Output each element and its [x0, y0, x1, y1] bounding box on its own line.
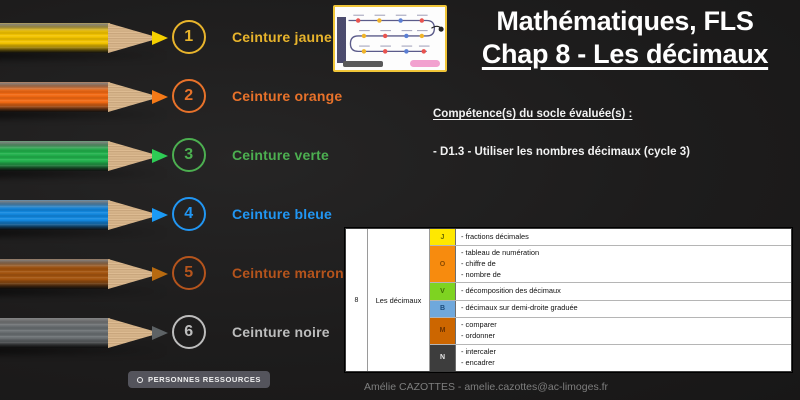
belt-row-1[interactable]: 1Ceinture jaune	[172, 20, 332, 54]
belt-label-4: Ceinture bleue	[232, 206, 332, 222]
table-cell-item: - nombre de	[461, 270, 791, 281]
competence-heading: Compétence(s) du socle évaluée(s) :	[433, 108, 632, 120]
belt-code-J: J	[430, 229, 456, 245]
table-row-group: J- fractions décimalesO- tableau de numé…	[430, 229, 791, 371]
table-row: N- intercaler- encadrer	[430, 345, 791, 371]
thumbnail-bar	[343, 61, 383, 67]
thumbnail-pill	[410, 60, 440, 67]
pencil-body	[0, 318, 110, 348]
table-row: O- tableau de numération- chiffre de- no…	[430, 246, 791, 283]
table-row: J- fractions décimales	[430, 229, 791, 246]
belt-number-6: 6	[172, 315, 206, 349]
table-cell-items: - fractions décimales	[456, 229, 791, 245]
author-credit: Amélie CAZOTTES - amelie.cazottes@ac-lim…	[0, 381, 792, 393]
table-cell-items: - décimaux sur demi-droite graduée	[456, 301, 791, 317]
belt-label-2: Ceinture orange	[232, 88, 342, 104]
belt-row-2[interactable]: 2Ceinture orange	[172, 79, 342, 113]
belt-row-5[interactable]: 5Ceinture marron	[172, 256, 344, 290]
table-chapter-number: 8	[346, 229, 368, 371]
table-cell-item: - tableau de numération	[461, 248, 791, 259]
slide-canvas: 1Ceinture jaune2Ceinture orange3Ceinture…	[0, 0, 800, 400]
pencil-body	[0, 259, 110, 289]
belt-row-4[interactable]: 4Ceinture bleue	[172, 197, 332, 231]
belt-number-4: 4	[172, 197, 206, 231]
table-row: B- décimaux sur demi-droite graduée	[430, 301, 791, 318]
pencil-tip	[152, 90, 168, 104]
table-cell-item: - intercaler	[461, 347, 791, 358]
title-line-1: Mathématiques, FLS	[455, 6, 795, 38]
title-line-2: Chap 8 - Les décimaux	[455, 38, 795, 72]
table-cell-item: - encadrer	[461, 358, 791, 369]
belt-row-6[interactable]: 6Ceinture noire	[172, 315, 330, 349]
pencil-tip	[152, 267, 168, 281]
skills-table: 8 Les décimaux J- fractions décimalesO- …	[345, 228, 792, 372]
pencil-tip	[152, 326, 168, 340]
belt-code-M: M	[430, 318, 456, 344]
pencil-body	[0, 141, 110, 171]
belt-label-5: Ceinture marron	[232, 265, 344, 281]
belt-code-O: O	[430, 246, 456, 282]
belt-row-3[interactable]: 3Ceinture verte	[172, 138, 329, 172]
belt-label-3: Ceinture verte	[232, 147, 329, 163]
belt-number-2: 2	[172, 79, 206, 113]
learning-path-thumbnail[interactable]	[333, 5, 447, 72]
table-row: V- décomposition des décimaux	[430, 283, 791, 300]
belt-code-N: N	[430, 345, 456, 371]
pencil-body	[0, 200, 110, 230]
table-cell-items: - tableau de numération- chiffre de- nom…	[456, 246, 791, 282]
table-cell-item: - ordonner	[461, 331, 791, 342]
belt-code-B: B	[430, 301, 456, 317]
table-cell-items: - intercaler- encadrer	[456, 345, 791, 371]
pencil-body	[0, 82, 110, 112]
thumbnail-vertical-title	[337, 17, 346, 63]
page-title: Mathématiques, FLS Chap 8 - Les décimaux	[455, 6, 795, 72]
table-row: M- comparer- ordonner	[430, 318, 791, 345]
belt-label-1: Ceinture jaune	[232, 29, 332, 45]
belt-number-3: 3	[172, 138, 206, 172]
table-cell-items: - décomposition des décimaux	[456, 283, 791, 299]
table-cell-item: - fractions décimales	[461, 232, 791, 243]
table-cell-item: - décomposition des décimaux	[461, 286, 791, 297]
belt-code-V: V	[430, 283, 456, 299]
belt-label-6: Ceinture noire	[232, 324, 330, 340]
pencil-tip	[152, 31, 168, 45]
table-cell-items: - comparer- ordonner	[456, 318, 791, 344]
pencil-body	[0, 23, 110, 53]
belt-number-5: 5	[172, 256, 206, 290]
table-cell-item: - chiffre de	[461, 259, 791, 270]
table-theme: Les décimaux	[368, 229, 430, 371]
table-cell-item: - décimaux sur demi-droite graduée	[461, 303, 791, 314]
competence-item: - D1.3 - Utiliser les nombres décimaux (…	[433, 146, 690, 158]
belt-number-1: 1	[172, 20, 206, 54]
table-cell-item: - comparer	[461, 320, 791, 331]
pencil-tip	[152, 208, 168, 222]
pencil-tip	[152, 149, 168, 163]
